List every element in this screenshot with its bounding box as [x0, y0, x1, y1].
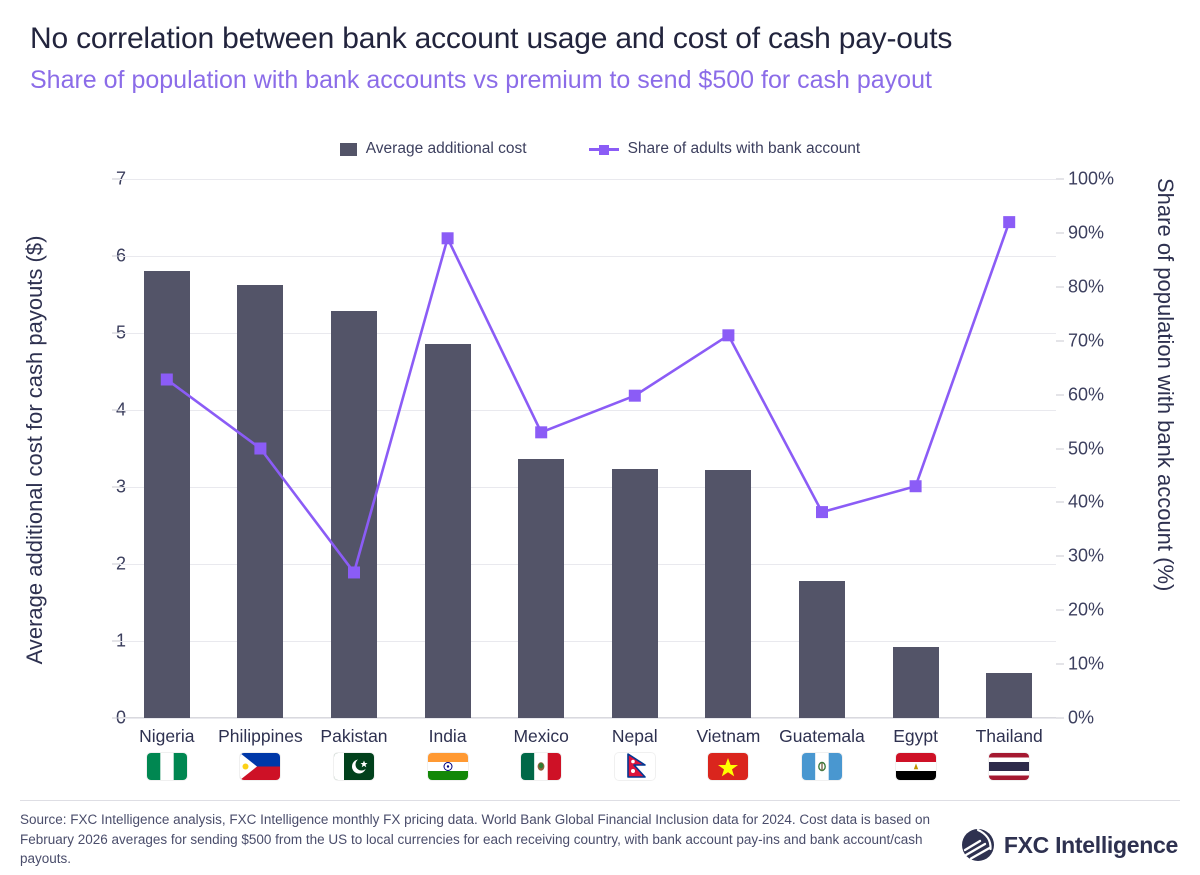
y-axis-right-tick-label: 90%: [1068, 222, 1128, 243]
x-axis-category-thailand[interactable]: Thailand: [962, 726, 1056, 780]
mexico-flag: [521, 753, 561, 780]
y-axis-left-tick-mark: [112, 641, 120, 642]
y-axis-left-title: Average additional cost for cash payouts…: [0, 0, 22, 180]
line-marker[interactable]: Thailand: 92%: [1003, 216, 1015, 228]
line-marker[interactable]: Philippines: 50%: [254, 443, 266, 455]
guatemala-flag: [802, 753, 842, 780]
y-axis-right-tick-label: 10%: [1068, 654, 1128, 675]
egypt-flag: [896, 753, 936, 780]
y-axis-right-tick-label: 70%: [1068, 330, 1128, 351]
pakistan-flag: [334, 753, 374, 780]
nepal-flag: [615, 753, 655, 780]
y-axis-right-tick-label: 60%: [1068, 384, 1128, 405]
y-axis-right-tick-label: 100%: [1068, 169, 1128, 190]
logo-text: FXC Intelligence: [1004, 832, 1178, 859]
x-axis-category-nepal[interactable]: Nepal: [588, 726, 682, 780]
line-marker[interactable]: Mexico: 53%: [535, 426, 547, 438]
x-axis-tick-label: Thailand: [962, 726, 1056, 747]
chart-plot-area: Average additional cost for cash payouts…: [0, 0, 1200, 875]
y-axis-left-tick-mark: [112, 179, 120, 180]
y-axis-left-tick-mark: [112, 718, 120, 719]
y-axis-left-tick-mark: [112, 256, 120, 257]
x-axis-tick-label: India: [401, 726, 495, 747]
x-axis-category-philippines[interactable]: Philippines: [214, 726, 308, 780]
line-path: [167, 222, 1009, 572]
x-axis-tick-label: Pakistan: [307, 726, 401, 747]
y-axis-right-tick-label: 0%: [1068, 708, 1128, 729]
y-axis-right-tick-mark: [1056, 448, 1064, 449]
y-axis-right-tick-mark: [1056, 610, 1064, 611]
x-axis-labels: NigeriaPhilippinesPakistanIndiaMexicoNep…: [120, 726, 1056, 796]
y-axis-left-tick-mark: [112, 564, 120, 565]
vietnam-flag: [708, 753, 748, 780]
y-axis-right-tick-label: 80%: [1068, 276, 1128, 297]
nigeria-flag: [147, 753, 187, 780]
x-axis-category-pakistan[interactable]: Pakistan: [307, 726, 401, 780]
y-axis-right-tick-mark: [1056, 340, 1064, 341]
y-axis-right-tick-mark: [1056, 179, 1064, 180]
x-axis-tick-label: Guatemala: [775, 726, 869, 747]
x-axis-tick-label: Mexico: [494, 726, 588, 747]
y-axis-left-tick-mark: [112, 333, 120, 334]
y-axis-right-tick-mark: [1056, 664, 1064, 665]
y-axis-right-tick-mark: [1056, 286, 1064, 287]
gridline: [120, 718, 1056, 719]
x-axis-category-guatemala[interactable]: Guatemala: [775, 726, 869, 780]
x-axis-tick-label: Nigeria: [120, 726, 214, 747]
line-marker[interactable]: India: 89%: [442, 232, 454, 244]
footer-divider: [20, 800, 1180, 801]
philippines-flag: [240, 753, 280, 780]
y-axis-right-tick-mark: [1056, 502, 1064, 503]
line-marker[interactable]: Pakistan: 27%: [348, 566, 360, 578]
line-marker[interactable]: Nepal: 59.8%: [629, 390, 641, 402]
x-axis-tick-label: Egypt: [869, 726, 963, 747]
x-axis-tick-label: Vietnam: [682, 726, 776, 747]
line-marker[interactable]: Egypt: 43%: [910, 480, 922, 492]
y-axis-right-tick-mark: [1056, 556, 1064, 557]
y-axis-right-tick-label: 20%: [1068, 600, 1128, 621]
plot-canvas: Nigeria: 62.8%Philippines: 50%Pakistan: …: [120, 179, 1056, 718]
source-note: Source: FXC Intelligence analysis, FXC I…: [20, 810, 930, 869]
y-axis-right-tick-mark: [1056, 718, 1064, 719]
line-marker[interactable]: Vietnam: 71%: [722, 329, 734, 341]
x-axis-tick-label: Philippines: [214, 726, 308, 747]
y-axis-right-tick-mark: [1056, 394, 1064, 395]
line-series: Nigeria: 62.8%Philippines: 50%Pakistan: …: [120, 179, 1056, 718]
line-marker[interactable]: Nigeria: 62.8%: [161, 374, 173, 386]
x-axis-tick-label: Nepal: [588, 726, 682, 747]
x-axis-category-egypt[interactable]: Egypt: [869, 726, 963, 780]
y-axis-right-tick-label: 30%: [1068, 546, 1128, 567]
y-axis-right-tick-mark: [1056, 232, 1064, 233]
fxc-intelligence-logo: FXC Intelligence: [961, 828, 1178, 862]
y-axis-right-title: Share of population with bank account (%…: [1152, 178, 1178, 723]
x-axis-category-india[interactable]: India: [401, 726, 495, 780]
x-axis-category-mexico[interactable]: Mexico: [494, 726, 588, 780]
fxc-globe-icon: [961, 828, 995, 862]
y-axis-right-tick-label: 50%: [1068, 438, 1128, 459]
y-axis-left-tick-mark: [112, 487, 120, 488]
x-axis-category-vietnam[interactable]: Vietnam: [682, 726, 776, 780]
thailand-flag: [989, 753, 1029, 780]
x-axis-category-nigeria[interactable]: Nigeria: [120, 726, 214, 780]
y-axis-left-tick-mark: [112, 410, 120, 411]
y-axis-right-tick-label: 40%: [1068, 492, 1128, 513]
line-marker[interactable]: Guatemala: 38.2%: [816, 506, 828, 518]
india-flag: [428, 753, 468, 780]
